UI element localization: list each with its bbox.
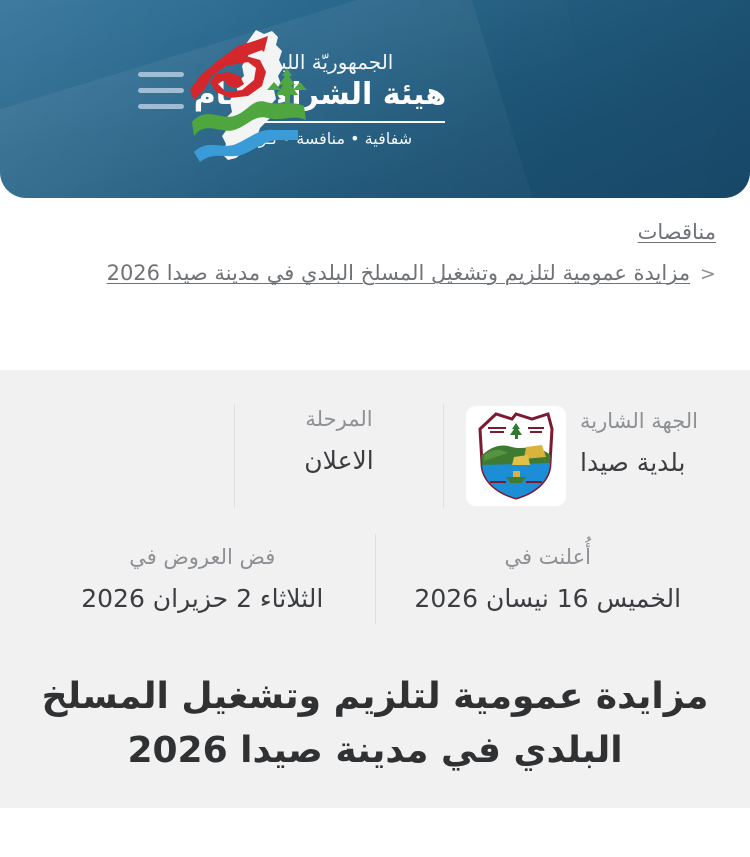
entity-text-group: الجهة الشارية بلدية صيدا [580, 406, 698, 481]
breadcrumb-current-row: > مزايدة عمومية لتلزيم وتشغيل المسلخ الب… [34, 258, 716, 290]
info-row-entity-stage: الجهة الشارية بلدية صيدا [30, 390, 720, 524]
breadcrumb-link-current[interactable]: مزايدة عمومية لتلزيم وتشغيل المسلخ البلد… [107, 258, 691, 290]
label-purchasing-entity: الجهة الشارية [580, 406, 698, 438]
label-stage: المرحلة [305, 404, 372, 436]
menu-bar-1 [138, 72, 184, 77]
info-row-dates: أُعلنت في الخميس 16 نيسان 2026 فض العروض… [30, 524, 720, 642]
breadcrumb-link-tenders[interactable]: مناقصات [638, 216, 716, 250]
info-cell-spacer [30, 390, 234, 524]
value-announced-on: الخميس 16 نيسان 2026 [414, 580, 681, 618]
chevron-right-icon: > [700, 258, 716, 289]
hamburger-menu-icon[interactable] [138, 72, 184, 109]
info-cell-announced-on: أُعلنت في الخميس 16 نيسان 2026 [376, 524, 721, 642]
info-cell-bid-opening: فض العروض في الثلاثاء 2 حزيران 2026 [30, 524, 375, 642]
site-header: الجمهوريّة اللبنانيّة هيئة الشراء العام … [0, 0, 750, 198]
saida-municipality-crest-icon [466, 406, 566, 506]
label-bid-opening: فض العروض في [129, 542, 275, 574]
value-purchasing-entity: بلدية صيدا [580, 444, 686, 482]
menu-bar-3 [138, 104, 184, 109]
label-announced-on: أُعلنت في [505, 542, 592, 574]
lebanon-procurement-authority-logo-icon [186, 24, 316, 166]
value-bid-opening: الثلاثاء 2 حزيران 2026 [81, 580, 323, 618]
info-cell-purchasing-entity: الجهة الشارية بلدية صيدا [444, 390, 720, 524]
info-cell-stage: المرحلة الاعلان [235, 390, 443, 524]
page-root: الجمهوريّة اللبنانيّة هيئة الشراء العام … [0, 0, 750, 857]
breadcrumb: مناقصات > مزايدة عمومية لتلزيم وتشغيل ال… [0, 198, 750, 370]
tender-info-panel: الجهة الشارية بلدية صيدا [0, 370, 750, 656]
value-stage: الاعلان [304, 442, 373, 480]
menu-bar-2 [138, 88, 184, 93]
page-title: مزايدة عمومية لتلزيم وتشغيل المسلخ البلد… [0, 656, 750, 808]
